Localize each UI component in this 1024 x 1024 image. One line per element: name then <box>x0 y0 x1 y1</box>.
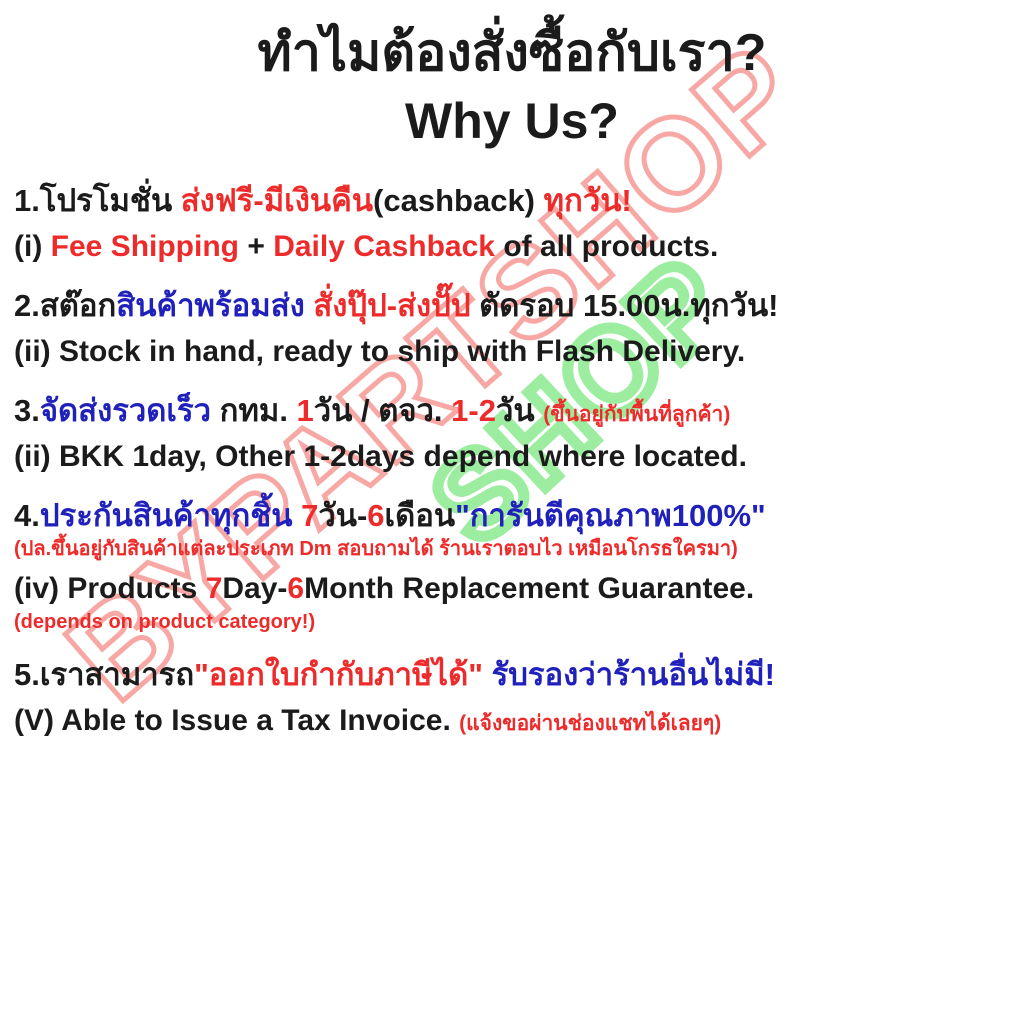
benefit-thai-line-segment: สินค้าพร้อมส่ง <box>116 288 304 323</box>
benefit-english-line-segment: (i) <box>14 230 51 263</box>
benefit-thai-line-segment: 1.โปรโมชั่น <box>14 183 181 218</box>
benefit-thai-line-segment: 6 <box>367 498 384 533</box>
benefit-english-line: (i) Fee Shipping + Daily Cashback of all… <box>14 228 1010 266</box>
benefit-thai-line: 2.สต๊อกสินค้าพร้อมส่ง สั่งปุ๊ป-ส่งปั๊ป ต… <box>14 286 1010 325</box>
poster-content: ทำไมต้องสั่งซื้อกับเรา? Why Us? 1.โปรโมช… <box>0 0 1024 740</box>
benefit-thai-line-segment: ตัดรอบ 15.00น.ทุกวัน! <box>471 288 779 323</box>
benefit-thai-line-segment <box>483 657 492 692</box>
benefit-english-line-note: (แจ้งขอผ่านช่องแชทได้เลยๆ) <box>459 712 721 735</box>
benefit-thai-line: 1.โปรโมชั่น ส่งฟรี-มีเงินคืน(cashback) ท… <box>14 181 1010 220</box>
benefit-english-line-segment: Month Replacement Guarantee. <box>304 572 754 605</box>
benefit-thai-line-note: (ขึ้นอยู่กับพื้นที่ลูกค้า) <box>543 403 730 426</box>
benefit-item: 5.เราสามารถ"ออกใบกำกับภาษีได้" รับรองว่า… <box>14 655 1010 740</box>
page-title: ทำไมต้องสั่งซื้อกับเรา? Why Us? <box>0 0 1024 147</box>
benefit-item: 2.สต๊อกสินค้าพร้อมส่ง สั่งปุ๊ป-ส่งปั๊ป ต… <box>14 286 1010 371</box>
benefit-thai-line-segment: 1-2 <box>451 393 496 428</box>
benefit-english-line-segment: (iv) Products <box>14 572 206 605</box>
why-us-poster: BYPARTSHOP SHOP ทำไมต้องสั่งซื้อกับเรา? … <box>0 0 1024 1024</box>
benefit-thai-line-segment: 1 <box>297 393 314 428</box>
benefit-thai-line-segment: วัน / ตจว. <box>314 393 451 428</box>
benefit-thai-line-segment: 4. <box>14 498 40 533</box>
benefit-english-line-segment: 6 <box>287 572 304 605</box>
benefit-thai-line-segment: ประกันสินค้าทุกชิ้น <box>40 498 293 533</box>
benefit-thai-line-segment: สั่งปุ๊ป-ส่งปั๊ป <box>313 288 470 323</box>
benefit-thai-line-segment: ทุกวัน! <box>544 183 632 218</box>
benefit-english-line: (ii) Stock in hand, ready to ship with F… <box>14 333 1010 371</box>
benefit-thai-line: 4.ประกันสินค้าทุกชิ้น 7วัน-6เดือน"การันต… <box>14 496 1010 535</box>
benefit-thai-line-segment: กทม. <box>211 393 296 428</box>
page-title-thai: ทำไมต้องสั่งซื้อกับเรา? <box>0 0 1024 81</box>
benefit-item: 1.โปรโมชั่น ส่งฟรี-มีเงินคืน(cashback) ท… <box>14 181 1010 266</box>
benefit-thai-line-segment: 3. <box>14 393 40 428</box>
benefit-english-line: (ii) BKK 1day, Other 1-2days depend wher… <box>14 438 1010 476</box>
benefit-english-line-segment: (ii) BKK 1day, Other 1-2days depend wher… <box>14 440 747 473</box>
benefit-thai-line-segment: 5.เราสามารถ <box>14 657 194 692</box>
benefit-english-line: (V) Able to Issue a Tax Invoice. (แจ้งขอ… <box>14 702 1010 740</box>
benefit-thai-line: 3.จัดส่งรวดเร็ว กทม. 1วัน / ตจว. 1-2วัน … <box>14 391 1010 430</box>
benefit-item: 3.จัดส่งรวดเร็ว กทม. 1วัน / ตจว. 1-2วัน … <box>14 391 1010 476</box>
benefit-thai-line-segment: "ออกใบกำกับภาษีได้" <box>194 657 483 692</box>
benefit-english-line-segment: Fee Shipping <box>51 230 248 263</box>
benefit-item: 4.ประกันสินค้าทุกชิ้น 7วัน-6เดือน"การันต… <box>14 496 1010 635</box>
benefit-thai-line-segment: รับรองว่าร้านอื่นไม่มี! <box>492 657 775 692</box>
benefit-thai-line-segment: เดือน <box>385 498 456 533</box>
benefit-thai-line-segment: วัน- <box>318 498 367 533</box>
page-title-english: Why Us? <box>0 81 1024 148</box>
benefit-thai-line-segment: "การันตีคุณภาพ100%" <box>455 498 766 533</box>
benefits-list: 1.โปรโมชั่น ส่งฟรี-มีเงินคืน(cashback) ท… <box>0 181 1024 740</box>
benefit-english-line-segment: (V) Able to Issue a Tax Invoice. <box>14 704 459 737</box>
benefit-thai-line-segment: วัน <box>496 393 543 428</box>
benefit-thai-line: 5.เราสามารถ"ออกใบกำกับภาษีได้" รับรองว่า… <box>14 655 1010 694</box>
benefit-english-line-segment: of all products. <box>503 230 718 263</box>
benefit-thai-note: (ปล.ขึ้นอยู่กับสินค้าแต่ละประเภท Dm สอบถ… <box>14 537 1010 562</box>
benefit-english-line-segment: + <box>247 230 273 263</box>
benefit-thai-line-segment: 7 <box>301 498 318 533</box>
benefit-thai-line-segment: 2.สต๊อก <box>14 288 116 323</box>
benefit-english-line-segment: (ii) Stock in hand, ready to ship with F… <box>14 335 745 368</box>
benefit-thai-line-segment <box>293 498 302 533</box>
benefit-english-line-segment: Daily Cashback <box>273 230 503 263</box>
benefit-thai-line-segment: (cashback) <box>373 183 544 218</box>
benefit-english-line-segment: 7 <box>206 572 223 605</box>
benefit-english-line-segment: Day- <box>222 572 287 605</box>
benefit-english-note: (depends on product category!) <box>14 610 1010 635</box>
benefit-thai-line-segment: ส่งฟรี-มีเงินคืน <box>181 183 373 218</box>
benefit-english-line: (iv) Products 7Day-6Month Replacement Gu… <box>14 570 1010 608</box>
benefit-thai-line-segment: จัดส่งรวดเร็ว <box>40 393 211 428</box>
